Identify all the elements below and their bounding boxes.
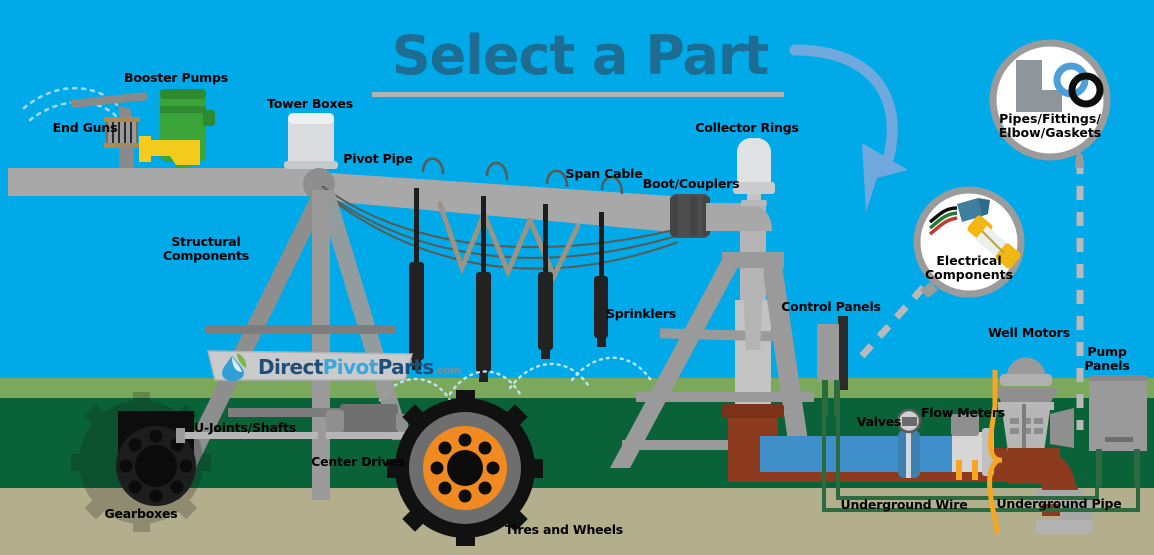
logo-text: DirectPivotParts.com — [258, 355, 461, 379]
logo-part-direct: Direct — [258, 355, 323, 379]
grass-light-band — [0, 378, 1154, 400]
tower-box-icon — [284, 113, 338, 169]
label-span-cable[interactable]: Span Cable — [566, 167, 643, 181]
label-tires-and-wheels[interactable]: Tires and Wheels — [505, 523, 623, 537]
boot-coupler-icon — [670, 194, 710, 238]
label-u-joints-shafts[interactable]: U-Joints/Shafts — [194, 421, 296, 435]
label-pump-panels[interactable]: Pump Panels — [1084, 345, 1129, 372]
label-collector-rings[interactable]: Collector Rings — [695, 121, 799, 135]
label-flow-meters[interactable]: Flow Meters — [921, 406, 1005, 420]
label-tower-boxes[interactable]: Tower Boxes — [267, 97, 353, 111]
logo-suffix: .com — [434, 364, 461, 377]
label-well-motors[interactable]: Well Motors — [988, 326, 1070, 340]
water-pipe-section — [760, 436, 960, 472]
title-underline — [372, 92, 784, 97]
valve-icon — [898, 410, 920, 478]
label-valves[interactable]: Valves — [857, 415, 902, 429]
label-structural-components[interactable]: Structural Components — [163, 235, 249, 262]
label-underground-pipe[interactable]: Underground Pipe — [996, 497, 1121, 511]
label-sprinklers[interactable]: Sprinklers — [606, 307, 676, 321]
logo-part-parts: Parts — [378, 355, 434, 379]
label-gearboxes[interactable]: Gearboxes — [104, 507, 177, 521]
logo[interactable]: DirectPivotParts.com — [206, 349, 414, 383]
badge-label-pipes-fittings[interactable]: Pipes/Fittings/ Elbow/Gaskets — [999, 112, 1101, 140]
label-control-panels[interactable]: Control Panels — [781, 300, 881, 314]
label-pivot-pipe[interactable]: Pivot Pipe — [343, 152, 412, 166]
label-underground-wire[interactable]: Underground Wire — [841, 498, 968, 512]
infographic-canvas: Select a Part DirectPivotParts.com End G… — [0, 0, 1154, 555]
label-booster-pumps[interactable]: Booster Pumps — [124, 71, 228, 85]
label-end-guns[interactable]: End Guns — [53, 121, 118, 135]
label-center-drives[interactable]: Center Drives — [311, 455, 405, 469]
label-boot-couplers[interactable]: Boot/Couplers — [643, 177, 740, 191]
badge-label-electrical-components[interactable]: Electrical Components — [925, 254, 1013, 282]
logo-part-pivot: Pivot — [323, 355, 378, 379]
page-title: Select a Part — [370, 24, 790, 87]
pivot-pipe-left-span — [8, 168, 320, 196]
